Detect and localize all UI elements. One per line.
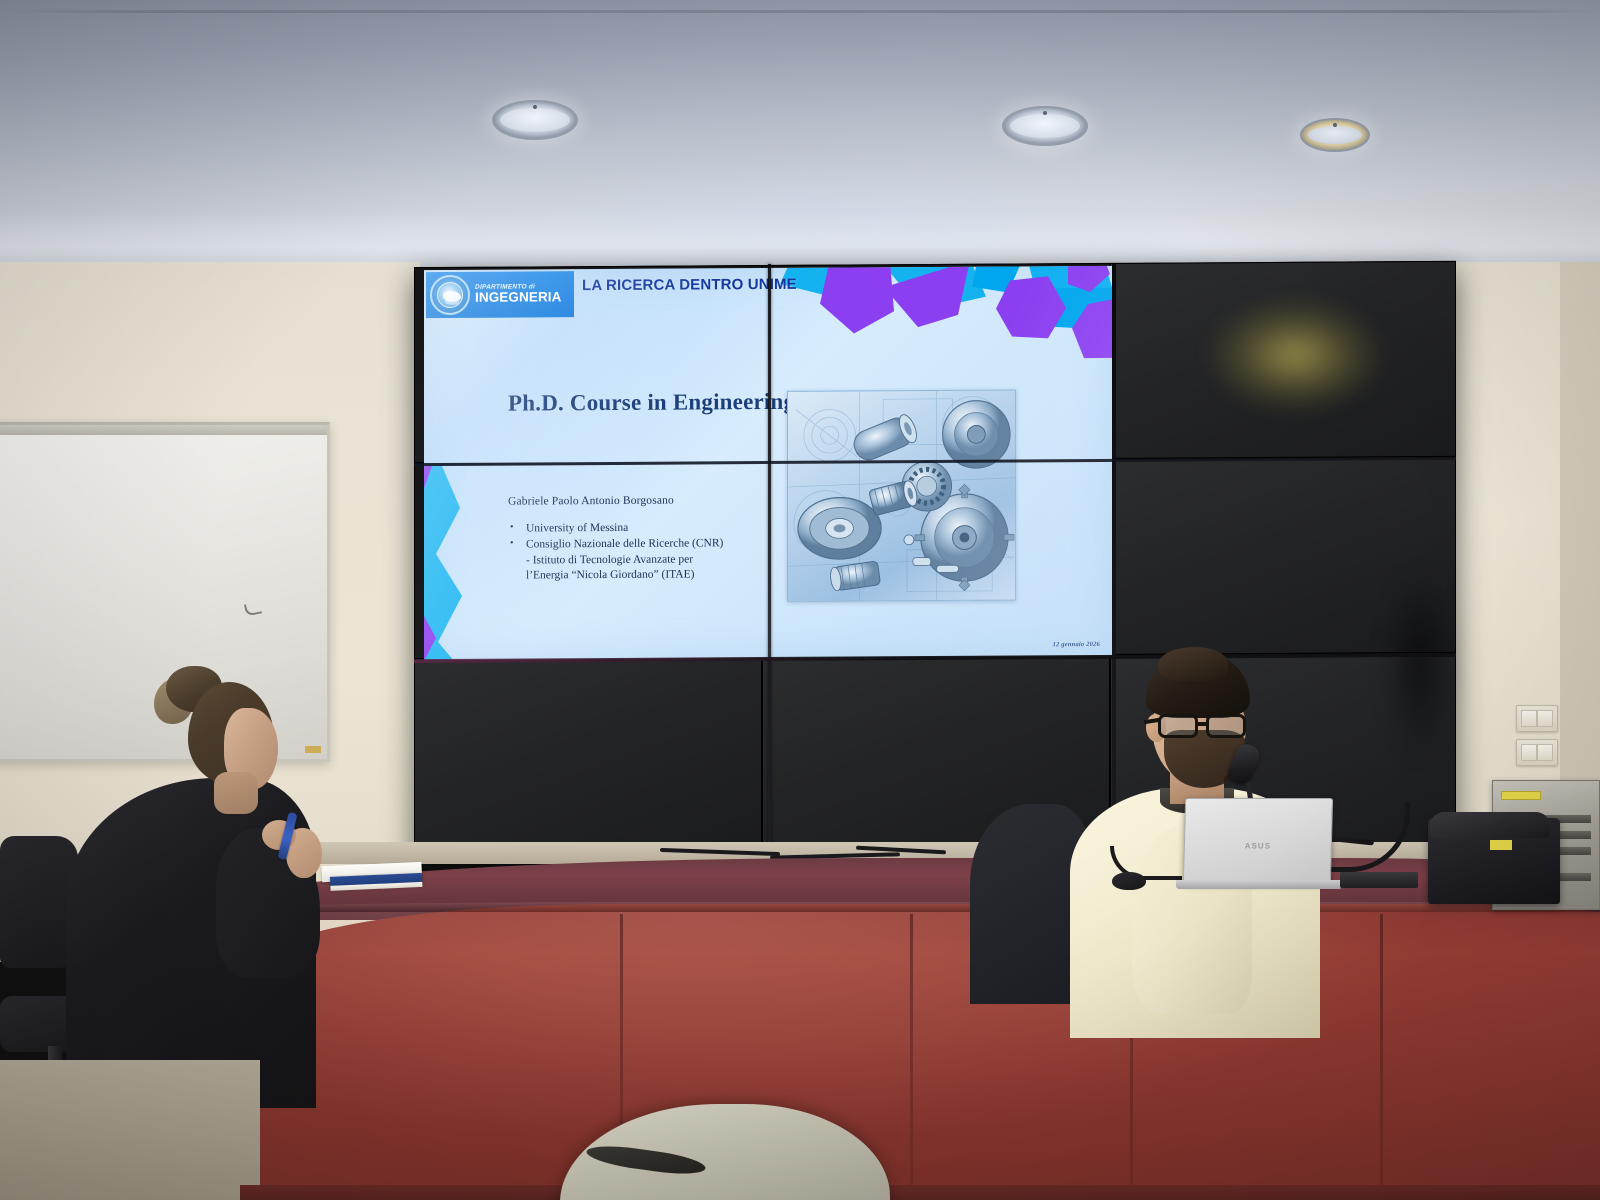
lens-left — [1158, 714, 1198, 738]
list-item: University of Messina — [504, 520, 729, 537]
videowall-bezel-vertical-1 — [768, 264, 771, 856]
slide-affiliation-list: University of Messina Consiglio Nazional… — [504, 520, 729, 585]
downlight-right-warm-icon — [1300, 118, 1370, 152]
wall-shadow — [1385, 570, 1455, 760]
vw-panel-r3c1 — [414, 657, 762, 859]
rocker-right-icon[interactable] — [1537, 710, 1553, 727]
decor-polygons-icon — [772, 266, 1112, 388]
rocker-left-icon[interactable] — [1521, 744, 1537, 761]
zigzag-band-icon — [424, 466, 468, 660]
vw-panel-r1c3 — [1110, 261, 1456, 459]
slide-logo-bar: DIPARTIMENTO di INGEGNERIA — [426, 271, 574, 318]
slide-decor-shapes — [772, 266, 1112, 388]
whiteboard-top-rail — [0, 425, 327, 435]
presenter-desk — [250, 858, 1600, 1200]
floor-left — [0, 1060, 260, 1200]
desk-edge — [250, 902, 1600, 912]
gear-cluster-icon — [788, 390, 1015, 601]
phone-label-sticker — [1490, 840, 1512, 850]
woman-taking-notes — [48, 660, 348, 1120]
desk-sheen — [250, 912, 1600, 1200]
lens-right — [1206, 714, 1246, 738]
cable-segment — [660, 848, 780, 856]
rack-warning-label — [1501, 791, 1541, 800]
whiteboard-marking — [244, 601, 262, 616]
slide-title: Ph.D. Course in Engineering — [508, 388, 795, 418]
department-wordmark: DIPARTIMENTO di INGEGNERIA — [475, 284, 562, 305]
glasses-bridge — [1197, 722, 1208, 726]
ceiling-seam — [0, 10, 1600, 13]
rocker-right-icon[interactable] — [1537, 744, 1553, 761]
light-switch-upper[interactable] — [1516, 705, 1558, 732]
woman-neck — [214, 772, 258, 814]
downlight-left-icon — [492, 100, 578, 140]
rocker-left-icon[interactable] — [1521, 710, 1537, 727]
slide-date: 12 gennaio 2026 — [1053, 641, 1100, 648]
lecture-hall-photo: DIPARTIMENTO di INGEGNERIA LA RICERCA DE… — [0, 0, 1600, 1200]
desk-connector-box[interactable] — [1340, 872, 1418, 888]
desk-panel-seam — [1380, 914, 1383, 1200]
mouse[interactable] — [1112, 872, 1146, 890]
downlight-center-icon — [1002, 106, 1088, 146]
slide-author: Gabriele Paolo Antonio Borgosano — [508, 495, 674, 508]
desk-panel-seam — [910, 914, 913, 1200]
university-seal-icon — [430, 275, 470, 315]
laptop-base — [1176, 880, 1342, 889]
laptop-brand-logo: ASUS — [1245, 842, 1271, 851]
list-item: Consiglio Nazionale delle Ricerche (CNR)… — [504, 537, 729, 585]
desk-base-shadow — [240, 1185, 1600, 1200]
phone-handset[interactable] — [1430, 812, 1550, 838]
slide-headline: LA RICERCA DENTRO UNIME — [582, 276, 797, 295]
slide-gears-image — [787, 389, 1016, 601]
light-switch-lower[interactable] — [1516, 739, 1558, 766]
slide-decor-zigzag — [424, 466, 468, 660]
department-name: INGEGNERIA — [475, 291, 562, 305]
man-hair-quiff — [1158, 647, 1228, 681]
eyeglasses-icon — [1158, 714, 1250, 738]
laptop[interactable]: ASUS — [1183, 798, 1333, 884]
